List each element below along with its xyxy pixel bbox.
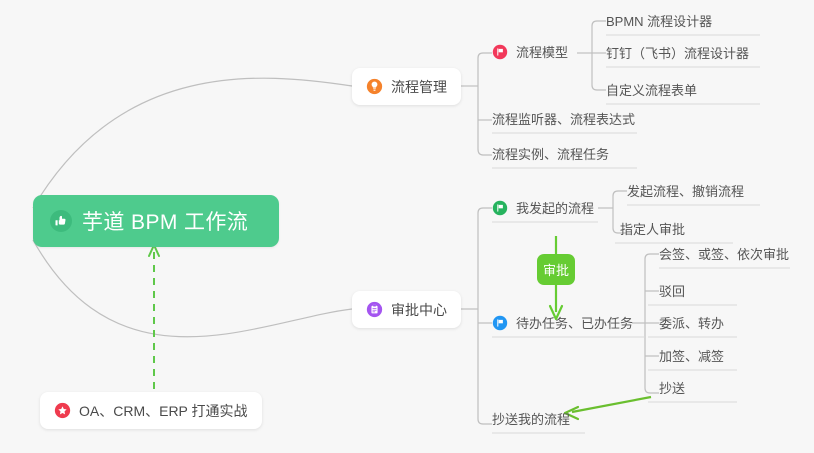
node-label-dingtalk-designer: 钉钉（飞书）流程设计器	[606, 43, 749, 62]
mindmap-canvas: 芋道 BPM 工作流 流程管理 审批中心	[0, 0, 814, 453]
node-dingtalk-designer[interactable]: 钉钉（飞书）流程设计器	[606, 43, 749, 65]
thumbs-up-circle-icon	[49, 209, 73, 233]
connector-root-to-approval-center	[33, 240, 352, 337]
node-label-cc-to-me-process: 抄送我的流程	[492, 409, 570, 428]
connector-pm-to-model	[478, 53, 492, 58]
connector-model-to-bpmn	[592, 21, 606, 26]
node-countersign[interactable]: 会签、或签、依次审批	[659, 244, 789, 266]
flag-circle-icon	[492, 315, 508, 331]
node-label-instance-task: 流程实例、流程任务	[492, 144, 609, 163]
node-start-cancel-process[interactable]: 发起流程、撤销流程	[627, 181, 744, 203]
node-label-countersign: 会签、或签、依次审批	[659, 244, 789, 263]
connector-ac-to-mystarted	[478, 208, 492, 213]
node-label-assignee-approval: 指定人审批	[620, 219, 685, 238]
node-bpmn-designer[interactable]: BPMN 流程设计器	[606, 11, 712, 33]
annotation-cc-arrow	[565, 397, 651, 419]
lightbulb-circle-icon	[366, 78, 383, 95]
connector-model-to-customform	[592, 85, 606, 90]
connector-ac-to-ccme	[478, 419, 492, 424]
node-assignee-approval[interactable]: 指定人审批	[620, 219, 685, 241]
node-label-process-model: 流程模型	[516, 42, 568, 61]
node-carbon-copy[interactable]: 抄送	[659, 378, 685, 400]
branch-node-approval-center[interactable]: 审批中心	[352, 291, 461, 328]
node-label-add-remove-sign: 加签、减签	[659, 346, 724, 365]
connector-tasks-to-countersign	[645, 254, 659, 259]
branch-node-process-management[interactable]: 流程管理	[352, 68, 461, 105]
footer-node-integration[interactable]: OA、CRM、ERP 打通实战	[40, 392, 262, 429]
flag-circle-icon	[492, 200, 508, 216]
approval-annotation-label: 审批	[543, 260, 569, 279]
root-node[interactable]: 芋道 BPM 工作流	[33, 195, 279, 247]
node-todo-done-tasks[interactable]: 待办任务、已办任务	[492, 313, 633, 335]
connector-ms-to-start	[613, 191, 627, 196]
node-reject[interactable]: 驳回	[659, 281, 685, 303]
node-label-delegate-transfer: 委派、转办	[659, 313, 724, 332]
approval-annotation-badge: 审批	[537, 254, 575, 285]
node-label-custom-form: 自定义流程表单	[606, 80, 697, 99]
node-cc-to-me-process[interactable]: 抄送我的流程	[492, 409, 570, 431]
root-label: 芋道 BPM 工作流	[82, 206, 248, 236]
connector-root-to-process-management	[33, 78, 352, 208]
node-my-started-process[interactable]: 我发起的流程	[492, 198, 594, 220]
node-label-reject: 驳回	[659, 281, 685, 300]
clipboard-circle-icon	[366, 301, 383, 318]
node-label-start-cancel-process: 发起流程、撤销流程	[627, 181, 744, 200]
node-label-listener-expression: 流程监听器、流程表达式	[492, 109, 635, 128]
annotation-dashed-uplink	[149, 245, 159, 389]
node-delegate-transfer[interactable]: 委派、转办	[659, 313, 724, 335]
branch-label-approval-center: 审批中心	[391, 300, 447, 320]
node-custom-form[interactable]: 自定义流程表单	[606, 80, 697, 102]
node-add-remove-sign[interactable]: 加签、减签	[659, 346, 724, 368]
node-label-carbon-copy: 抄送	[659, 378, 685, 397]
connector-pm-to-instance	[478, 149, 492, 155]
node-listener-expression[interactable]: 流程监听器、流程表达式	[492, 109, 635, 131]
footer-node-label: OA、CRM、ERP 打通实战	[79, 401, 248, 421]
node-label-bpmn-designer: BPMN 流程设计器	[606, 11, 712, 30]
node-instance-task[interactable]: 流程实例、流程任务	[492, 144, 609, 166]
star-circle-icon	[54, 402, 71, 419]
connector-tasks-to-cc	[645, 388, 659, 393]
node-label-my-started-process: 我发起的流程	[516, 198, 594, 217]
branch-label-process-management: 流程管理	[391, 77, 447, 97]
node-process-model[interactable]: 流程模型	[492, 42, 568, 64]
node-label-todo-done-tasks: 待办任务、已办任务	[516, 313, 633, 332]
flag-circle-icon	[492, 44, 508, 60]
